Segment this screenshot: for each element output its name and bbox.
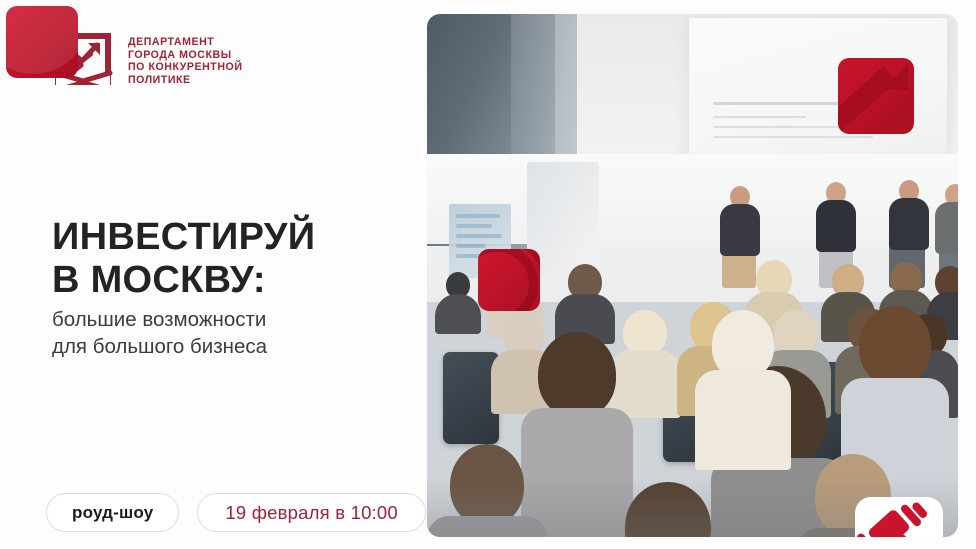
brand-line-3: ПО КОНКУРЕНТНОЙ — [128, 61, 242, 74]
headline: ИНВЕСТИРУЙ В МОСКВУ: — [52, 216, 315, 302]
speaker-1 — [719, 186, 761, 260]
format-pill[interactable]: роуд-шоу — [46, 493, 179, 532]
arrow-head-shape — [882, 64, 908, 90]
brand-lockup: ДЕПАРТАМЕНТ ГОРОДА МОСКВЫ ПО КОНКУРЕНТНО… — [52, 30, 242, 92]
decor-square-top-left — [0, 0, 84, 84]
decor-square-gavel — [855, 497, 943, 537]
speaker-3 — [887, 180, 931, 258]
speaker-4 — [935, 184, 958, 258]
audience-person — [555, 264, 615, 338]
subheadline-line-2: для большого бизнеса — [52, 333, 267, 360]
datetime-pill[interactable]: 19 февраля в 10:00 — [197, 493, 425, 532]
screen-line-2 — [713, 126, 842, 128]
subheadline: большие возможности для большого бизнеса — [52, 306, 267, 360]
decor-square-top-right — [838, 58, 914, 134]
brand-line-1: ДЕПАРТАМЕНТ — [128, 36, 242, 49]
headline-line-2: В МОСКВУ: — [52, 259, 315, 302]
format-pill-label: роуд-шоу — [72, 503, 153, 523]
subheadline-line-1: большие возможности — [52, 306, 267, 333]
speaker-2 — [815, 182, 857, 258]
brand-line-4: ПОЛИТИКЕ — [128, 74, 242, 87]
audience-person-front — [695, 310, 791, 460]
arc-highlight-shape — [6, 6, 78, 74]
audience-person — [435, 272, 481, 330]
ring-shape-2 — [478, 249, 540, 311]
banner-canvas: ДЕПАРТАМЕНТ ГОРОДА МОСКВЫ ПО КОНКУРЕНТНО… — [0, 0, 976, 549]
brand-line-2: ГОРОДА МОСКВЫ — [128, 49, 242, 62]
decor-square-top-left-inner — [6, 6, 78, 78]
datetime-pill-label: 19 февраля в 10:00 — [225, 502, 397, 524]
left-content-panel: ДЕПАРТАМЕНТ ГОРОДА МОСКВЫ ПО КОНКУРЕНТНО… — [0, 0, 430, 549]
screen-line-3 — [713, 136, 873, 138]
decor-square-mid-left — [478, 249, 540, 311]
screen-line-1 — [713, 116, 806, 118]
brand-name: ДЕПАРТАМЕНТ ГОРОДА МОСКВЫ ПО КОНКУРЕНТНО… — [128, 30, 242, 86]
tag-pill-row: роуд-шоу 19 февраля в 10:00 — [46, 493, 426, 532]
headline-line-1: ИНВЕСТИРУЙ — [52, 216, 315, 259]
gavel-icon — [855, 497, 943, 537]
